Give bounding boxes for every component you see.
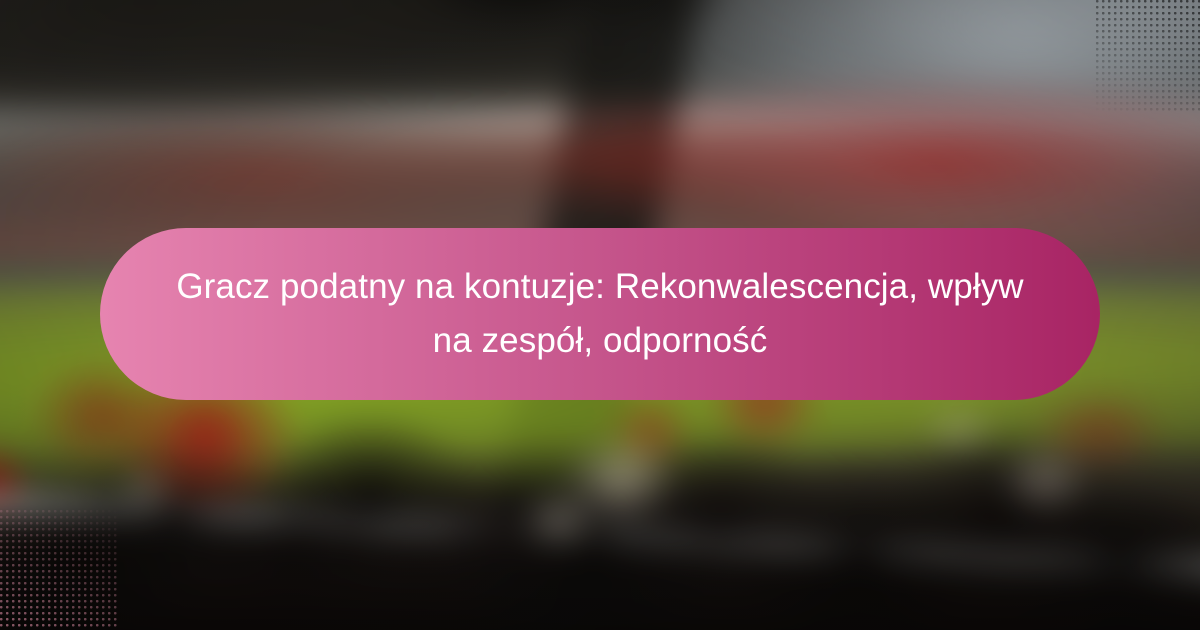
headline-pill: Gracz podatny na kontuzje: Rekonwalescen… xyxy=(100,228,1100,400)
page-title: Gracz podatny na kontuzje: Rekonwalescen… xyxy=(170,260,1030,369)
social-share-card: Gracz podatny na kontuzje: Rekonwalescen… xyxy=(0,0,1200,630)
